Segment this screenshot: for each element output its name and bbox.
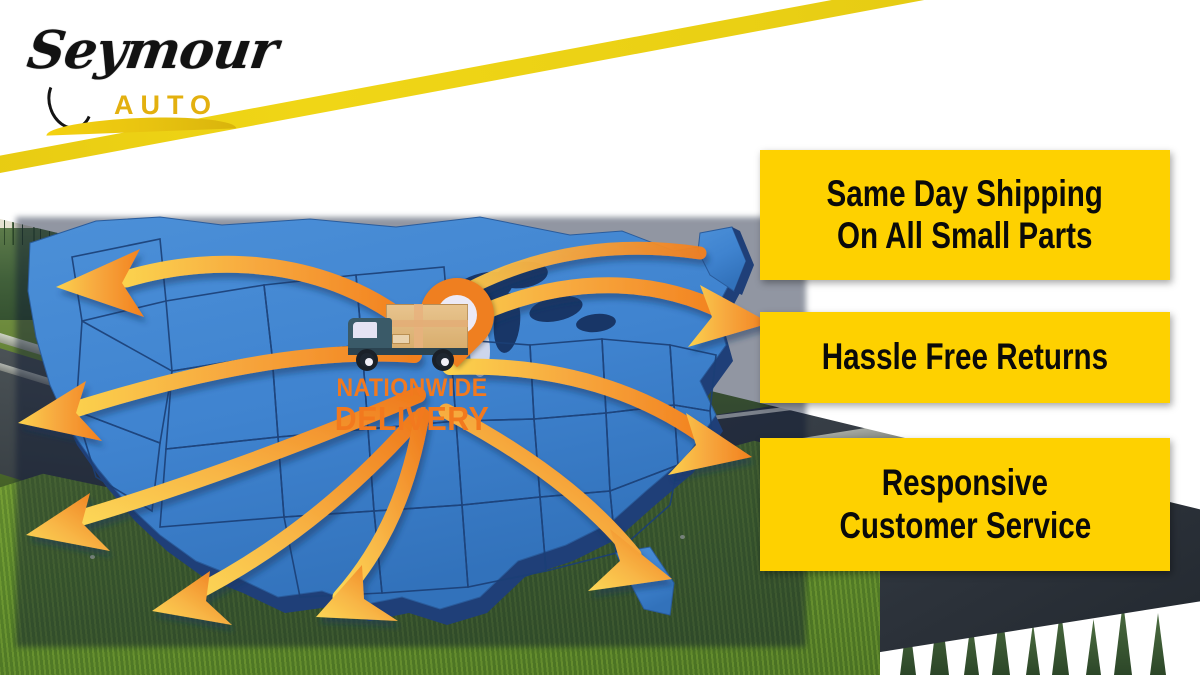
callout-3-line-2: Customer Service: [839, 505, 1091, 547]
seymour-auto-logo[interactable]: Seymour AUTO: [22, 18, 252, 126]
nationwide-delivery-badge: NATIONWIDE DELIVERY: [322, 272, 502, 452]
logo-script-text: Seymour: [24, 20, 281, 81]
callout-3-line-1: Responsive: [882, 462, 1048, 504]
callout-2-line-1: Hassle Free Returns: [822, 336, 1108, 378]
callout-1-line-1: Same Day Shipping: [827, 173, 1103, 215]
badge-text: NATIONWIDE DELIVERY: [322, 376, 502, 435]
logo-auto-text: AUTO: [114, 90, 218, 121]
callout-hassle-free-returns[interactable]: Hassle Free Returns: [760, 312, 1170, 403]
callout-responsive-customer-service[interactable]: Responsive Customer Service: [760, 438, 1170, 571]
promo-banner: Seymour AUTO: [0, 0, 1200, 675]
badge-line-2: DELIVERY: [329, 402, 495, 436]
badge-line-1: NATIONWIDE: [329, 376, 495, 402]
callout-same-day-shipping[interactable]: Same Day Shipping On All Small Parts: [760, 150, 1170, 280]
callout-1-line-2: On All Small Parts: [837, 215, 1093, 257]
delivery-truck-icon: [340, 302, 468, 378]
